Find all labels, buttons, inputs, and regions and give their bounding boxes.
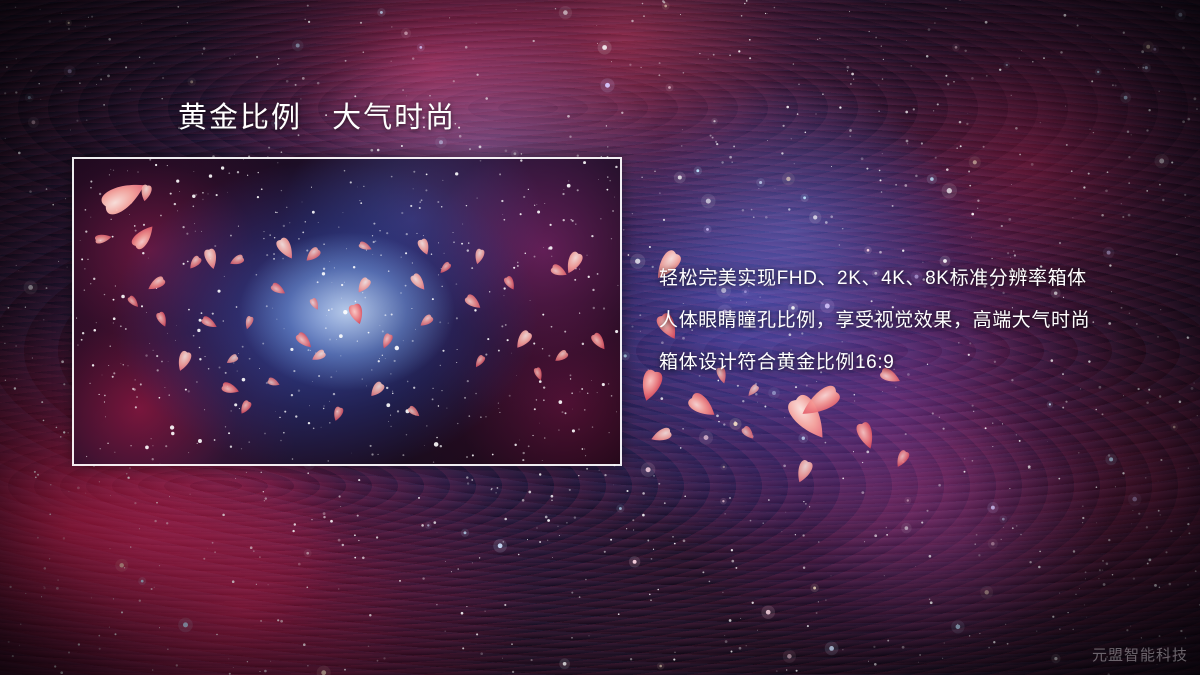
framed-image-content [74, 159, 620, 464]
slide-canvas: 黄金比例 大气时尚 轻松完美实现FHD、2K、4K、8K标准分辨率箱体 人体眼睛… [0, 0, 1200, 675]
slide-title: 黄金比例 大气时尚 [178, 101, 456, 136]
watermark-label: 元盟智能科技 [1092, 644, 1188, 665]
body-line-1: 轻松完美实现FHD、2K、4K、8K标准分辨率箱体 [659, 258, 1169, 300]
body-line-2: 人体眼睛瞳孔比例，享受视觉效果，高端大气时尚 [659, 300, 1169, 342]
framed-image-starfield [74, 159, 620, 464]
body-copy-block: 轻松完美实现FHD、2K、4K、8K标准分辨率箱体 人体眼睛瞳孔比例，享受视觉效… [659, 258, 1169, 384]
framed-image [72, 157, 622, 466]
body-line-3: 箱体设计符合黄金比例16:9 [659, 342, 1169, 384]
